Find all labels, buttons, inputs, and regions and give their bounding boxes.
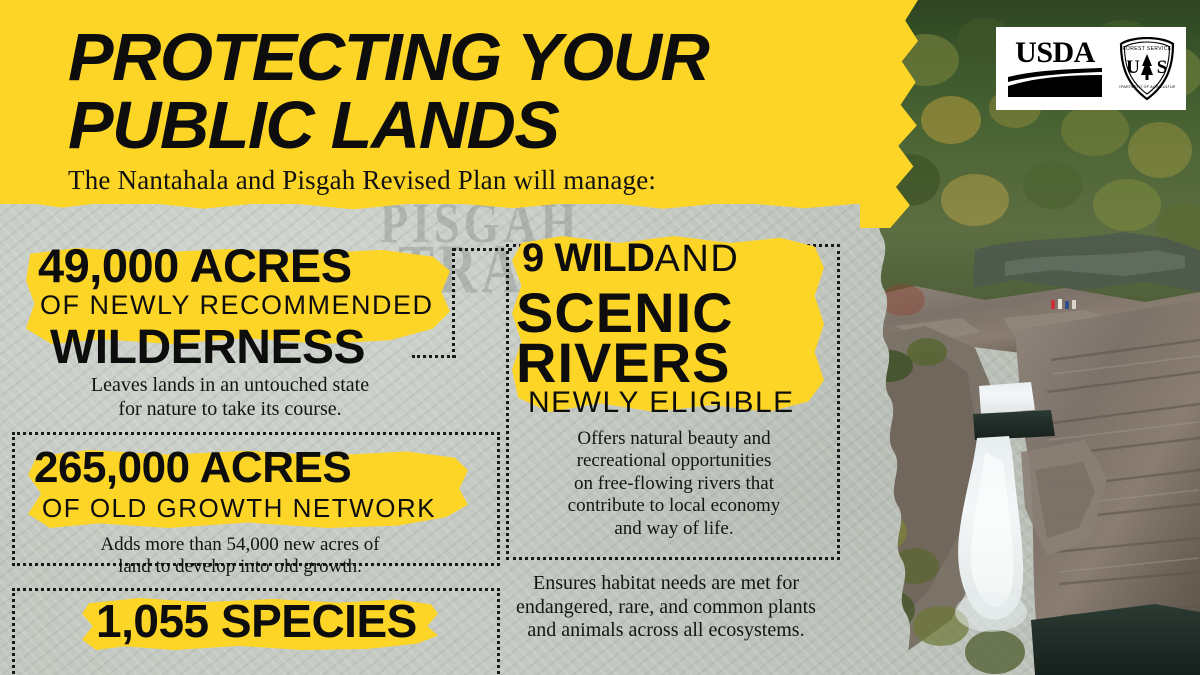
svg-text:S: S <box>1157 57 1168 78</box>
page-title-line1: PROTECTING YOUR <box>68 24 708 91</box>
wilderness-keyword: WILDERNESS <box>50 320 365 375</box>
rivers-description: Offers natural beauty and recreational o… <box>512 428 836 540</box>
rivers-description-line2: recreational opportunities <box>512 450 836 472</box>
infographic-poster: PISGAH TRAIL <box>0 0 1200 675</box>
old-growth-number: 265,000 ACRES <box>34 443 351 493</box>
connector-wilderness-vertical <box>452 248 455 358</box>
page-title-line2: PUBLIC LANDS <box>68 92 558 159</box>
old-growth-description: Adds more than 54,000 new acres of land … <box>20 534 460 579</box>
rivers-qualifier: NEWLY ELIGIBLE <box>528 386 795 420</box>
old-growth-description-line2: land to develop into old growth. <box>20 556 460 578</box>
wilderness-description-line1: Leaves lands in an untouched state <box>20 374 440 398</box>
rivers-description-line3: on free-flowing rivers that <box>512 473 836 495</box>
wilderness-number: 49,000 ACRES <box>38 238 352 293</box>
old-growth-qualifier: OF OLD GROWTH NETWORK <box>42 493 436 524</box>
usda-wordmark: USDA <box>1007 39 1103 98</box>
usda-text: USDA <box>1015 39 1095 68</box>
connector-wilderness-bottom <box>412 355 456 358</box>
wilderness-qualifier: OF NEWLY RECOMMENDED <box>40 290 434 321</box>
shield-bottom-label: DEPARTMENT OF AGRICULTURE <box>1119 85 1175 89</box>
wilderness-description: Leaves lands in an untouched state for n… <box>20 374 440 421</box>
rivers-headline-row: 9 WILDAND <box>522 236 739 281</box>
rivers-connector: AND <box>655 238 740 280</box>
shield-top-label: FOREST SERVICE <box>1122 46 1171 52</box>
forest-service-shield-icon: FOREST SERVICE U S DEPARTMENT OF AGRICUL… <box>1119 37 1175 101</box>
page-subtitle: The Nantahala and Pisgah Revised Plan wi… <box>68 165 656 196</box>
old-growth-description-line1: Adds more than 54,000 new acres of <box>20 534 460 556</box>
usda-forest-service-logo: USDA FOREST SERVICE U S DEPARTMENT OF AG… <box>996 27 1186 110</box>
rivers-description-line1: Offers natural beauty and <box>512 428 836 450</box>
wilderness-description-line2: for nature to take its course. <box>20 398 440 422</box>
species-number: 1,055 SPECIES <box>96 594 417 648</box>
species-description: Ensures habitat needs are met for endang… <box>476 572 856 643</box>
rivers-description-line4: contribute to local economy <box>512 495 836 517</box>
svg-text:U: U <box>1126 57 1140 78</box>
species-description-line3: and animals across all ecosystems. <box>476 619 856 643</box>
rivers-number: 9 WILD <box>522 236 655 280</box>
usda-swoosh-icon <box>1007 68 1103 98</box>
species-description-line2: endangered, rare, and common plants <box>476 596 856 620</box>
species-description-line1: Ensures habitat needs are met for <box>476 572 856 596</box>
connector-wilderness-top <box>452 248 512 251</box>
rivers-description-line5: and way of life. <box>512 518 836 540</box>
